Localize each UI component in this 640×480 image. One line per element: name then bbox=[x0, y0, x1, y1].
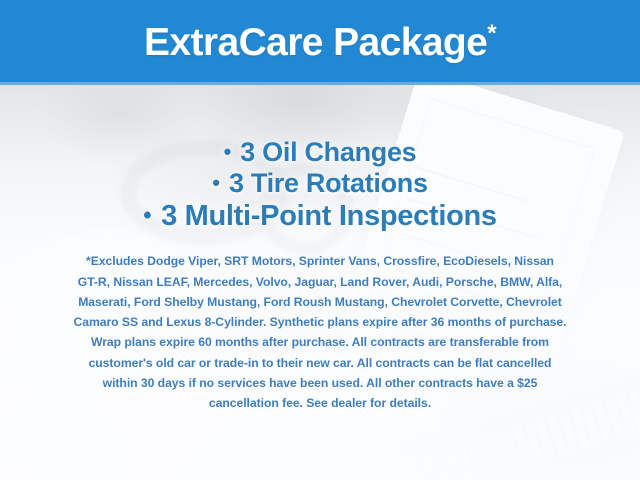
disclaimer-line: within 30 days if no services have been … bbox=[22, 373, 618, 393]
content-area: • 3 Oil Changes • 3 Tire Rotations • 3 M… bbox=[0, 85, 640, 480]
extracare-package-ad: ExtraCare Package* • 3 Oil Changes • 3 T… bbox=[0, 0, 640, 480]
benefit-label: 3 Oil Changes bbox=[240, 137, 416, 167]
page-title: ExtraCare Package* bbox=[144, 23, 496, 62]
disclaimer-line: Camaro SS and Lexus 8-Cylinder. Syntheti… bbox=[22, 312, 618, 332]
bullet-icon: • bbox=[143, 202, 151, 229]
benefit-item-tire-rotations: • 3 Tire Rotations bbox=[0, 168, 640, 199]
benefit-item-multi-point-inspections: • 3 Multi-Point Inspections bbox=[0, 200, 640, 234]
bullet-icon: • bbox=[212, 170, 219, 195]
disclaimer-line: GT-R, Nissan LEAF, Mercedes, Volvo, Jagu… bbox=[22, 272, 618, 292]
benefit-label: 3 Tire Rotations bbox=[229, 168, 428, 198]
disclaimer-line: *Excludes Dodge Viper, SRT Motors, Sprin… bbox=[22, 251, 618, 271]
header-bar: ExtraCare Package* bbox=[0, 0, 640, 85]
bullet-icon: • bbox=[224, 139, 231, 164]
benefit-label: 3 Multi-Point Inspections bbox=[161, 200, 497, 232]
disclaimer-line: Wrap plans expire 60 months after purcha… bbox=[22, 332, 618, 352]
disclaimer-line: customer's old car or trade-in to their … bbox=[22, 353, 618, 373]
benefit-item-oil-changes: • 3 Oil Changes bbox=[0, 137, 640, 168]
page-title-asterisk: * bbox=[487, 20, 496, 47]
page-title-text: ExtraCare Package bbox=[144, 21, 487, 64]
disclaimer-line: cancellation fee. See dealer for details… bbox=[22, 393, 618, 413]
disclaimer-text: *Excludes Dodge Viper, SRT Motors, Sprin… bbox=[0, 251, 640, 413]
benefits-list: • 3 Oil Changes • 3 Tire Rotations • 3 M… bbox=[0, 85, 640, 233]
disclaimer-line: Maserati, Ford Shelby Mustang, Ford Rous… bbox=[22, 292, 618, 312]
